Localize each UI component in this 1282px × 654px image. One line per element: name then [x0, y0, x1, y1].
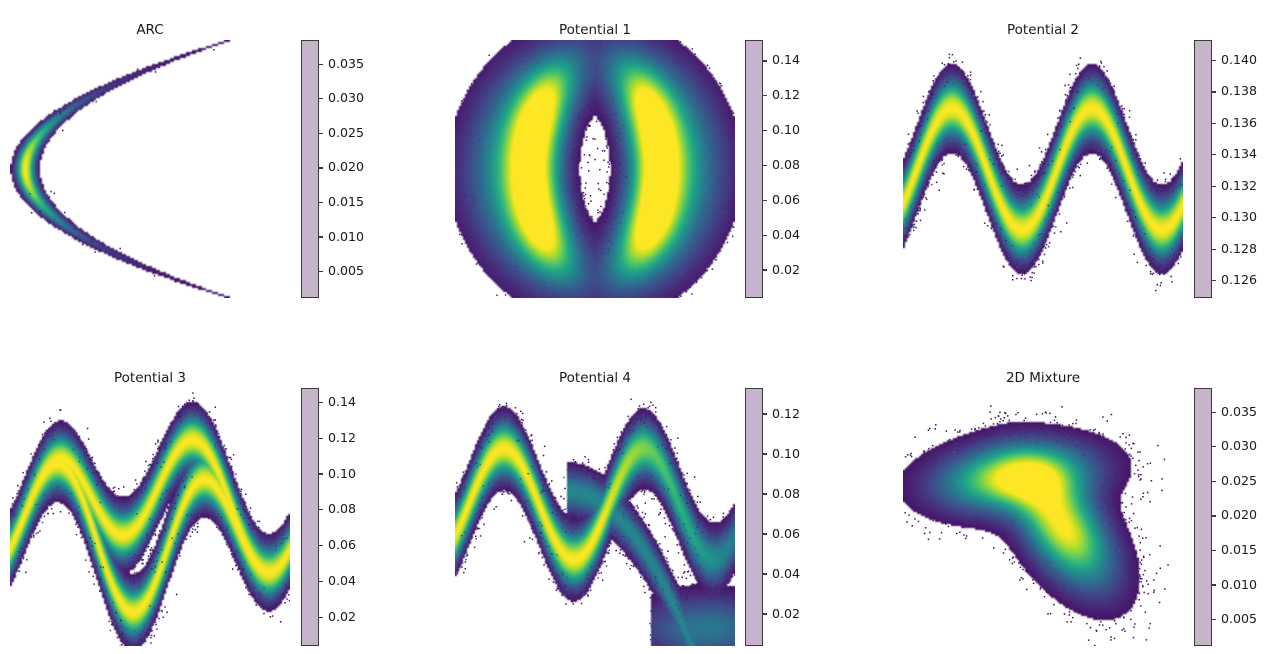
panel-title-mixture-2d: 2D Mixture	[903, 370, 1183, 386]
figure-canvas: ARC0.0050.0100.0150.0200.0250.0300.035Po…	[0, 0, 1282, 654]
colorbar-tick-mixture-2d-4	[1212, 481, 1216, 482]
plot-area-mixture-2d	[903, 388, 1183, 646]
colorbar-tick-label-mixture-2d-5: 0.030	[1221, 440, 1257, 453]
colorbar-tick-mixture-2d-3	[1212, 515, 1216, 516]
colorbar-tick-label-mixture-2d-1: 0.010	[1221, 579, 1257, 592]
colorbar-tick-mixture-2d-1	[1212, 584, 1216, 585]
colorbar-tick-label-mixture-2d-4: 0.025	[1221, 475, 1257, 488]
colorbar-tick-label-mixture-2d-0: 0.005	[1221, 613, 1257, 626]
colorbar-tick-mixture-2d-2	[1212, 550, 1216, 551]
colorbar-tick-label-mixture-2d-2: 0.015	[1221, 544, 1257, 557]
colorbar-ticks-mixture-2d: 0.0050.0100.0150.0200.0250.0300.035	[1194, 388, 1212, 646]
colorbar-tick-mixture-2d-0	[1212, 619, 1216, 620]
colorbar-tick-label-mixture-2d-6: 0.035	[1221, 406, 1257, 419]
colorbar-tick-mixture-2d-6	[1212, 412, 1216, 413]
panel-mixture-2d: 2D Mixture0.0050.0100.0150.0200.0250.030…	[0, 0, 1282, 654]
colorbar-tick-label-mixture-2d-3: 0.020	[1221, 509, 1257, 522]
density-scatter-mixture-2d	[903, 388, 1183, 646]
colorbar-tick-mixture-2d-5	[1212, 446, 1216, 447]
colorbar-mixture-2d: 0.0050.0100.0150.0200.0250.0300.035	[1194, 388, 1212, 646]
